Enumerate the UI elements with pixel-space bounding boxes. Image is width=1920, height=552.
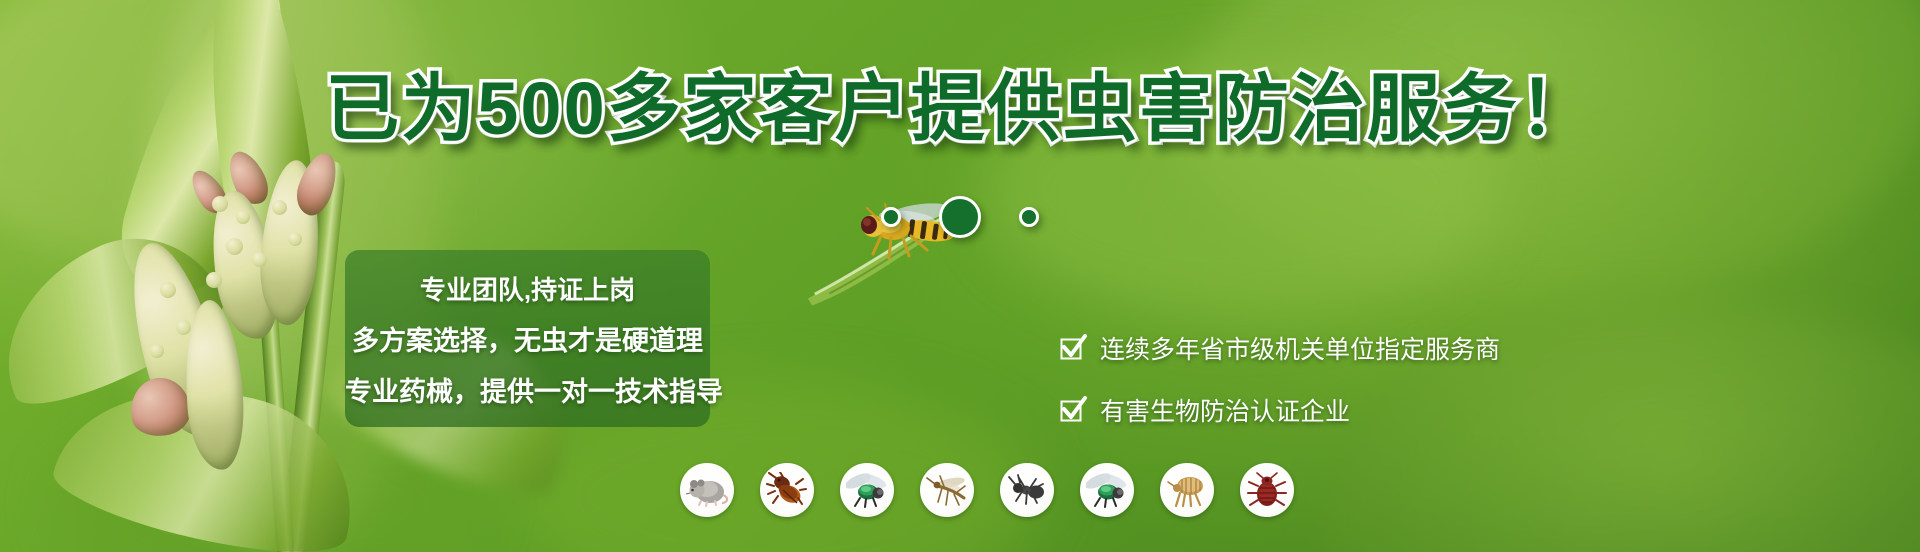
pest-types-row — [680, 463, 1294, 517]
cockroach-icon[interactable] — [760, 463, 814, 517]
credentials-checklist: 连续多年省市级机关单位指定服务商 有害生物防治认证企业 — [1060, 330, 1500, 428]
dot-small-left — [881, 207, 901, 227]
check-square-icon-2 — [1060, 397, 1086, 423]
checklist-label-2: 有害生物防治认证企业 — [1100, 392, 1350, 428]
mosquito-icon[interactable] — [920, 463, 974, 517]
page-title-text: 已为500多家客户提供虫害防治服务！ — [325, 67, 1594, 150]
dot-large-center — [939, 196, 981, 238]
page-title: 已为500多家客户提供虫害防治服务！ 已为500多家客户提供虫害防治服务！ — [0, 72, 1920, 146]
service-claims-panel: 专业团队,持证上岗 多方案选择，无虫才是硬道理 专业药械，提供一对一技术指导 — [345, 250, 710, 427]
bedbug-icon[interactable] — [1240, 463, 1294, 517]
fly-icon-2[interactable] — [1080, 463, 1134, 517]
checklist-item-1: 连续多年省市级机关单位指定服务商 — [1060, 330, 1500, 366]
claim-line-2: 多方案选择，无虫才是硬道理 — [345, 319, 710, 358]
checklist-label-1: 连续多年省市级机关单位指定服务商 — [1100, 330, 1500, 366]
decorative-dots — [0, 196, 1920, 238]
pest-control-hero-banner: 已为500多家客户提供虫害防治服务！ 已为500多家客户提供虫害防治服务！ 专业… — [0, 0, 1920, 552]
mouse-icon[interactable] — [680, 463, 734, 517]
checklist-item-2: 有害生物防治认证企业 — [1060, 392, 1500, 428]
dot-small-right — [1019, 207, 1039, 227]
claim-line-1: 专业团队,持证上岗 — [345, 270, 710, 307]
check-square-icon — [1060, 335, 1086, 361]
fly-icon[interactable] — [840, 463, 894, 517]
claim-line-3: 专业药械，提供一对一技术指导 — [345, 370, 710, 409]
ant-icon[interactable] — [1000, 463, 1054, 517]
flea-icon[interactable] — [1160, 463, 1214, 517]
